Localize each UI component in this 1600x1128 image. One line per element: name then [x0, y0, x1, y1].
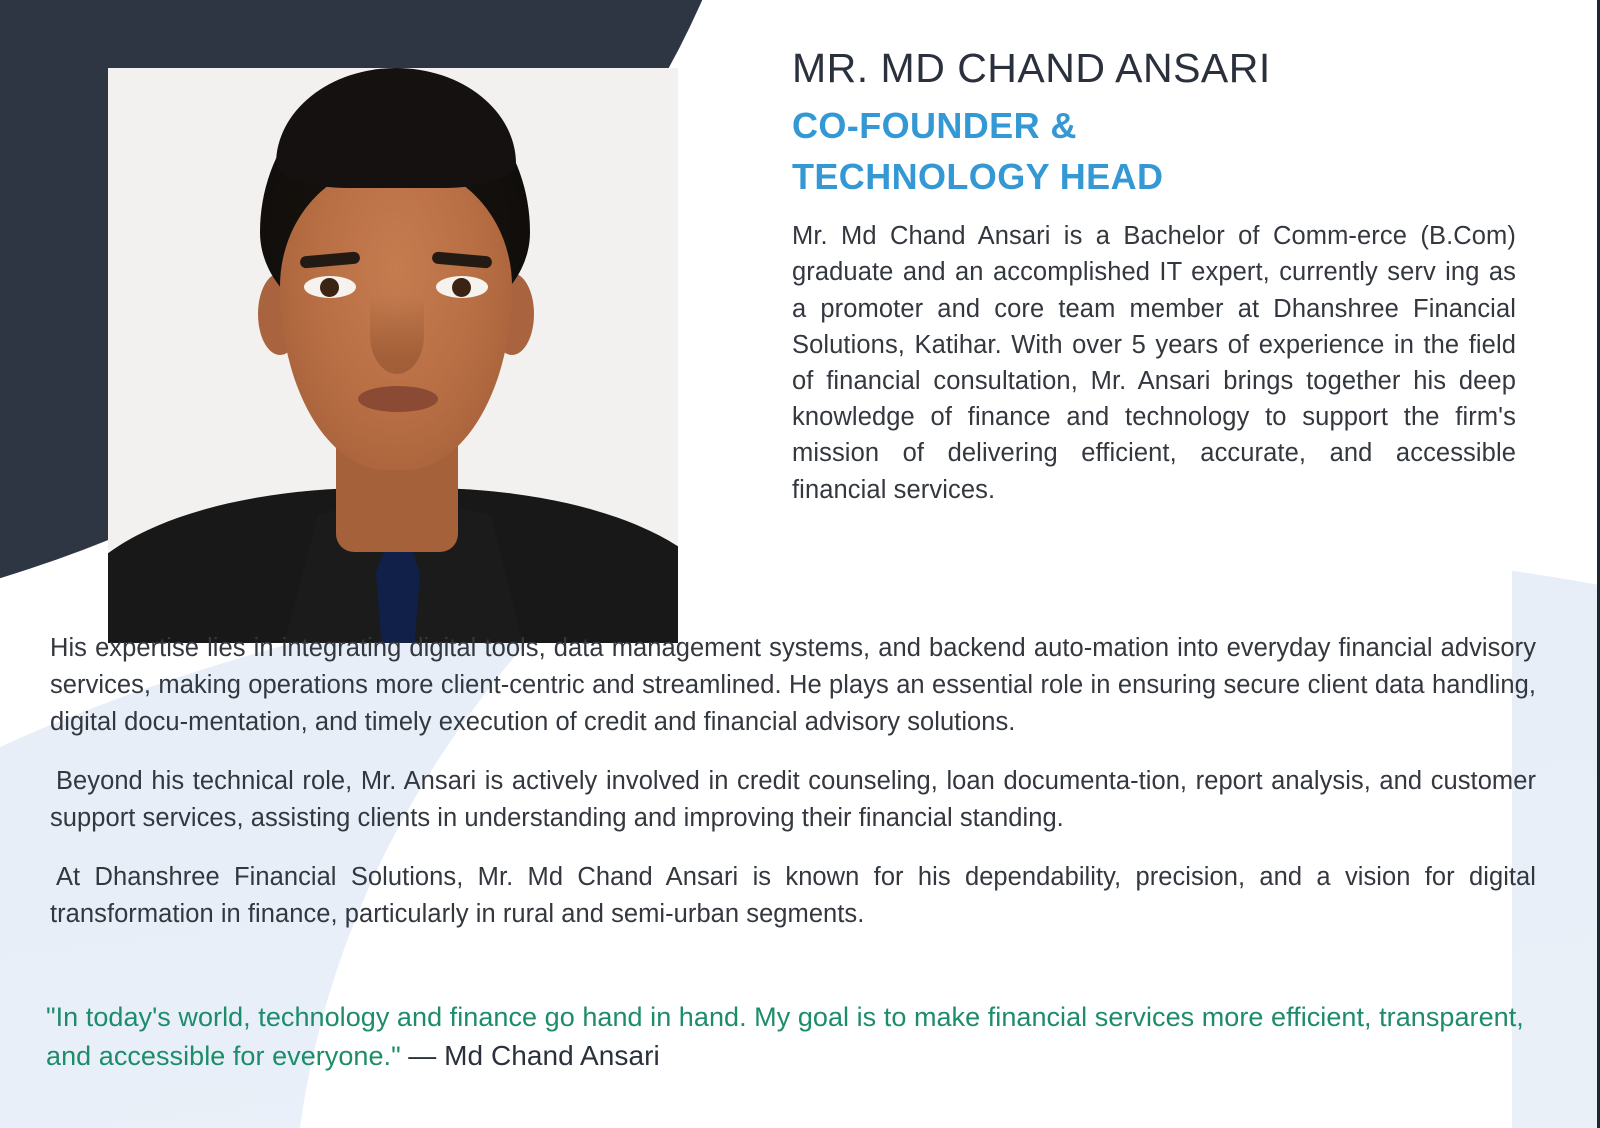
profile-card: MR. MD CHAND ANSARI CO-FOUNDER & TECHNOL…: [0, 0, 1600, 1128]
portrait-hair-top: [276, 68, 516, 188]
portrait-photo-canvas: [108, 68, 678, 643]
person-name: MR. MD CHAND ANSARI: [792, 46, 1516, 92]
pull-quote-text: "In today's world, technology and financ…: [46, 1002, 1524, 1071]
portrait-mouth: [358, 386, 438, 412]
portrait-eye-right: [436, 276, 488, 298]
body-paragraphs: His expertise lies in integrating digita…: [50, 630, 1536, 933]
pull-quote-attribution: — Md Chand Ansari: [408, 1040, 659, 1071]
body-paragraph-3: At Dhanshree Financial Solutions, Mr. Md…: [50, 859, 1536, 933]
portrait-photo: [108, 68, 678, 643]
portrait-eye-left: [304, 276, 356, 298]
body-paragraph-1: His expertise lies in integrating digita…: [50, 630, 1536, 741]
body-paragraph-2: Beyond his technical role, Mr. Ansari is…: [50, 763, 1536, 837]
portrait-nose: [370, 296, 424, 374]
person-role-line-2: TECHNOLOGY HEAD: [792, 151, 1516, 202]
person-bio-paragraph: Mr. Md Chand Ansari is a Bachelor of Com…: [792, 218, 1516, 508]
pull-quote: "In today's world, technology and financ…: [46, 998, 1536, 1076]
profile-header-column: MR. MD CHAND ANSARI CO-FOUNDER & TECHNOL…: [792, 46, 1516, 508]
person-role-line-1: CO-FOUNDER &: [792, 100, 1516, 151]
person-role: CO-FOUNDER & TECHNOLOGY HEAD: [792, 100, 1516, 202]
